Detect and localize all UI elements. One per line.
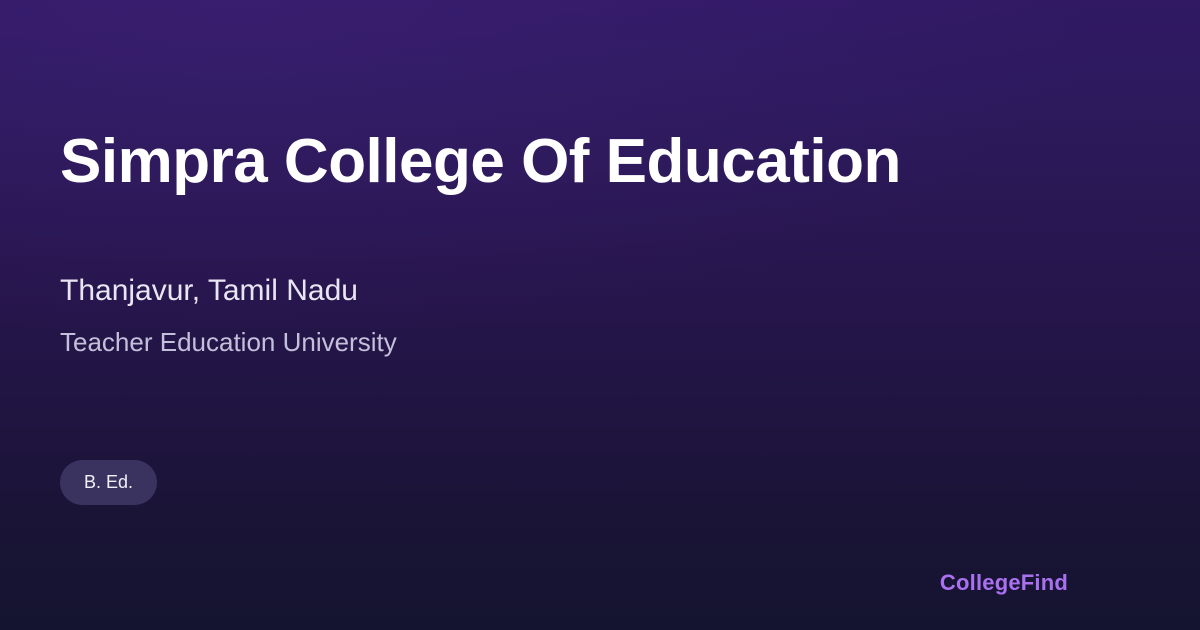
brand-logo-text: CollegeFind — [940, 569, 1068, 597]
course-tag-list: B. Ed. — [60, 460, 157, 505]
college-share-card: Simpra College Of Education Thanjavur, T… — [0, 0, 1200, 630]
card-content: Simpra College Of Education Thanjavur, T… — [0, 0, 1200, 630]
college-location: Thanjavur, Tamil Nadu — [60, 272, 358, 310]
college-type: Teacher Education University — [60, 325, 397, 359]
page-title: Simpra College Of Education — [60, 126, 901, 198]
course-tag-b-ed: B. Ed. — [60, 460, 157, 505]
